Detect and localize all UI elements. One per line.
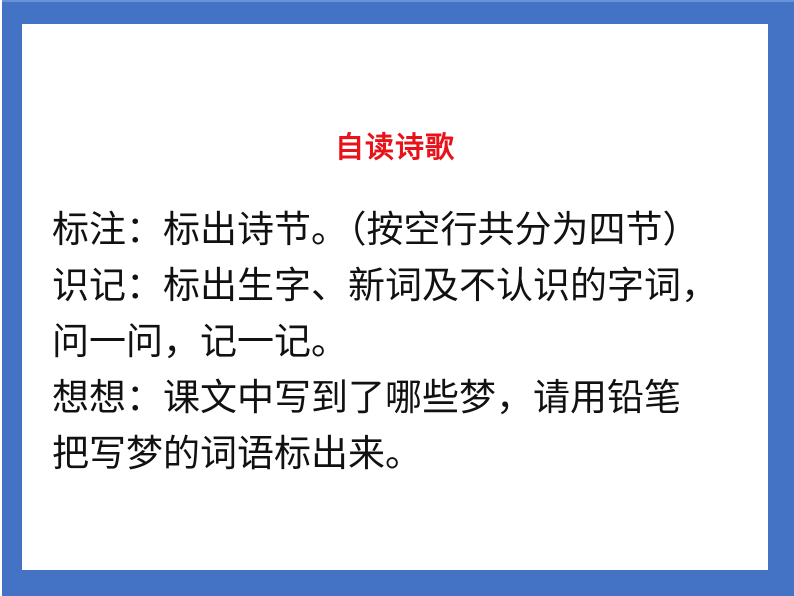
slide-border-highlight: [2, 0, 794, 2]
body-line-3: 问一问，记一记。: [52, 314, 752, 370]
body-line-2: 识记：标出生字、新词及不认识的字词，: [52, 258, 752, 314]
presentation-slide: 自读诗歌 标注：标出诗节。（按空行共分为四节） 识记：标出生字、新词及不认识的字…: [0, 0, 794, 596]
slide-body-text: 标注：标出诗节。（按空行共分为四节） 识记：标出生字、新词及不认识的字词， 问一…: [52, 202, 752, 482]
slide-content-panel: 自读诗歌 标注：标出诗节。（按空行共分为四节） 识记：标出生字、新词及不认识的字…: [22, 24, 768, 570]
slide-title: 自读诗歌: [22, 132, 768, 164]
body-line-5: 把写梦的词语标出来。: [52, 426, 752, 482]
body-line-4: 想想：课文中写到了哪些梦，请用铅笔: [52, 370, 752, 426]
body-line-1: 标注：标出诗节。（按空行共分为四节）: [52, 202, 752, 258]
